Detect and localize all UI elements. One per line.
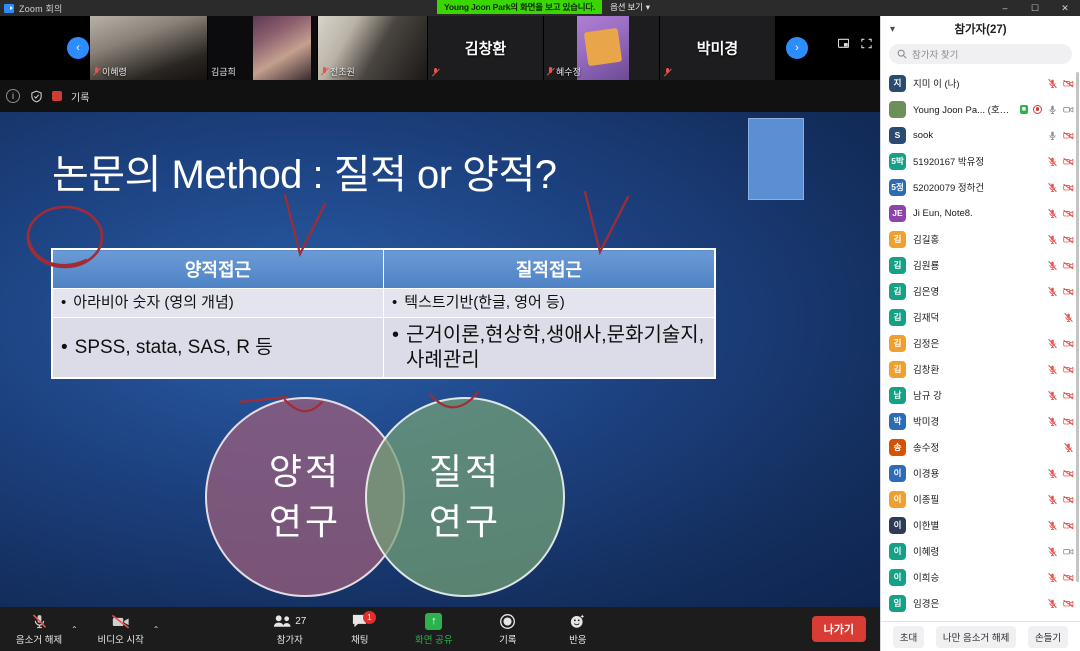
- avatar: 이: [889, 569, 906, 586]
- mute-label: 음소거 해제: [16, 632, 62, 646]
- mic-off-icon: [1063, 312, 1074, 323]
- participant-name: 김재덕: [913, 310, 1056, 324]
- venn-circle-qualitative: 질적 연구: [365, 397, 565, 597]
- filmstrip-prev-button[interactable]: ‹: [67, 37, 89, 59]
- share-screen-icon: ↑: [425, 612, 442, 630]
- toolbar-left-group: 음소거 해제 ⌃ 비디오 시작 ⌃: [0, 607, 159, 651]
- participant-row[interactable]: 김김정은: [881, 330, 1080, 356]
- participant-row[interactable]: Young Joon Pa... (호스트)■: [881, 96, 1080, 122]
- participants-button[interactable]: 27 참가자: [263, 607, 317, 651]
- video-label: 비디오 시작: [98, 632, 144, 646]
- cell-quant-2: SPSS, stata, SAS, R 등: [53, 318, 384, 378]
- video-off-icon: [1063, 130, 1074, 141]
- participant-row[interactable]: JEJi Eun, Note8.: [881, 200, 1080, 226]
- participant-row[interactable]: 이이희승: [881, 564, 1080, 590]
- participant-row[interactable]: 김김은영: [881, 278, 1080, 304]
- invite-button[interactable]: 초대: [893, 626, 924, 648]
- participant-name: 이혜령: [913, 544, 1040, 558]
- venn-right-line2: 연구: [429, 504, 501, 540]
- cell-text: SPSS, stata, SAS, R 등: [61, 336, 375, 359]
- avatar: 5박: [889, 153, 906, 170]
- table-row: SPSS, stata, SAS, R 등 근거이론,현상학,생애사,문화기술지…: [53, 318, 715, 378]
- participant-status: [1047, 338, 1074, 349]
- video-filmstrip: 이혜령 김금희 전초원 김창환 혜수정 박미경 ‹ ›: [0, 16, 880, 80]
- avatar: [889, 101, 906, 118]
- participant-row[interactable]: 김김재덕: [881, 304, 1080, 330]
- mic-on-icon: [1047, 104, 1058, 115]
- reactions-button[interactable]: 반응: [551, 607, 605, 651]
- table-header-qualitative: 질적접근: [384, 250, 715, 289]
- participant-row[interactable]: 박박미경: [881, 408, 1080, 434]
- avatar: 5정: [889, 179, 906, 196]
- avatar: 김: [889, 257, 906, 274]
- participant-row[interactable]: 이이종필: [881, 486, 1080, 512]
- participant-name: 지미 이 (나): [913, 76, 1040, 90]
- slide-comparison-table: 양적접근 질적접근 아라비아 숫자 (영의 개념) 텍스트기반(한글, 영어 등…: [52, 249, 715, 378]
- mic-off-icon: [1047, 208, 1058, 219]
- thumbnail-name-5: 박미경: [660, 38, 775, 59]
- thumbnail-name-2: 전초원: [321, 65, 355, 78]
- thumbnail-4[interactable]: 혜수정: [544, 16, 660, 80]
- video-off-icon: [111, 612, 131, 630]
- avatar: 이: [889, 517, 906, 534]
- cell-text: 텍스트기반(한글, 영어 등): [392, 294, 706, 312]
- shield-icon[interactable]: [29, 89, 43, 103]
- close-button[interactable]: ✕: [1050, 0, 1080, 16]
- participant-status: [1047, 364, 1074, 375]
- participant-status: [1047, 130, 1074, 141]
- video-off-icon: [1063, 234, 1074, 245]
- participant-status: [1047, 260, 1074, 271]
- filmstrip-view-controls: [838, 38, 872, 49]
- thumbnail-name-0: 이혜령: [93, 65, 127, 78]
- info-icon[interactable]: i: [6, 89, 20, 103]
- search-input[interactable]: 참가자 찾기: [889, 44, 1072, 64]
- video-options-caret-icon[interactable]: ⌃: [153, 625, 160, 634]
- venn-right-line1: 질적: [429, 454, 501, 490]
- cell-qual-2: 근거이론,현상학,생애사,문화기술지,사례관리: [384, 318, 715, 378]
- recording-indicator-icon: [52, 91, 62, 101]
- chevron-down-icon: ▾: [646, 2, 650, 13]
- participant-status: [1047, 598, 1074, 609]
- video-off-icon: [1063, 364, 1074, 375]
- maximize-button[interactable]: ☐: [1020, 0, 1050, 16]
- cell-text: 근거이론,현상학,생애사,문화기술지,사례관리: [392, 323, 706, 372]
- participant-status: [1047, 416, 1074, 427]
- panel-scrollbar[interactable]: [1076, 72, 1079, 582]
- participant-name: 이종필: [913, 492, 1040, 506]
- participant-status: [1047, 546, 1074, 557]
- venn-left-line1: 양적: [269, 454, 341, 490]
- avatar: 임: [889, 595, 906, 612]
- share-banner-message: Young Joon Park의 화면을 보고 있습니다.: [437, 0, 602, 14]
- meeting-toolbar: 음소거 해제 ⌃ 비디오 시작 ⌃: [0, 607, 880, 651]
- participant-status: [1047, 286, 1074, 297]
- mic-off-icon: [31, 612, 48, 630]
- video-on-icon: [1063, 104, 1074, 115]
- slide-artifact-rect: [748, 118, 804, 200]
- cell-qual-1: 텍스트기반(한글, 영어 등): [384, 289, 715, 318]
- video-off-icon: [1063, 598, 1074, 609]
- meeting-info-row: i 기록: [0, 80, 880, 112]
- view-options-button[interactable]: 옵션 보기 ▾: [602, 0, 658, 14]
- mic-off-icon: [1047, 598, 1058, 609]
- video-off-icon: [1063, 286, 1074, 297]
- participant-name: 송수정: [913, 440, 1056, 454]
- leave-meeting-button[interactable]: 나가기: [812, 616, 866, 642]
- participant-status: [1063, 442, 1074, 453]
- avatar: 이: [889, 491, 906, 508]
- participant-row[interactable]: 5정52020079 정하건: [881, 174, 1080, 200]
- mic-off-icon: [547, 67, 554, 77]
- participants-panel-title: 참가자(27): [881, 21, 1080, 37]
- video-off-icon: [1063, 78, 1074, 89]
- participant-status: [1047, 208, 1074, 219]
- filmstrip-next-button[interactable]: ›: [786, 37, 808, 59]
- chat-label: 채팅: [351, 632, 368, 646]
- venn-left-line2: 연구: [269, 504, 341, 540]
- thumbnail-name-3: 김창환: [428, 38, 543, 59]
- participant-name: 이경용: [913, 466, 1040, 480]
- avatar: S: [889, 127, 906, 144]
- record-label: 기록: [499, 632, 516, 646]
- unmute-me-button[interactable]: 나만 음소거 해제: [936, 626, 1016, 648]
- shared-screen-stage: 논문의 Method : 질적 or 양적? 양적접근 질적접근 아라비아 숫자…: [0, 112, 880, 607]
- participant-status: [1047, 494, 1074, 505]
- mic-off-icon: [432, 67, 439, 77]
- participants-count: 27: [295, 616, 306, 627]
- participants-panel: ▾ 참가자(27) 참가자 찾기 지지미 이 (나)Young Joon Pa.…: [880, 16, 1080, 651]
- participant-status: [1047, 468, 1074, 479]
- participant-row[interactable]: 이이혜령: [881, 538, 1080, 564]
- video-off-icon: [1063, 572, 1074, 583]
- avatar: 박: [889, 413, 906, 430]
- participant-status: [1047, 234, 1074, 245]
- participant-status: [1047, 572, 1074, 583]
- thumbnail-5[interactable]: 박미경: [660, 16, 776, 80]
- mic-off-icon: [1047, 260, 1058, 271]
- avatar: 남: [889, 387, 906, 404]
- thumbnail-video-1: [253, 16, 311, 80]
- participant-row[interactable]: 지지미 이 (나): [881, 70, 1080, 96]
- search-placeholder: 참가자 찾기: [912, 47, 958, 61]
- share-screen-button[interactable]: ↑ 화면 공유: [403, 607, 465, 651]
- participants-panel-header: ▾ 참가자(27): [881, 16, 1080, 42]
- participant-status: [1047, 520, 1074, 531]
- mic-off-icon: [1047, 182, 1058, 193]
- participants-search-wrap: 참가자 찾기: [881, 42, 1080, 70]
- avatar: 김: [889, 309, 906, 326]
- mic-on-icon: [1047, 130, 1058, 141]
- mic-off-icon: [1047, 494, 1058, 505]
- participant-name: 이희승: [913, 570, 1040, 584]
- mic-off-icon: [1047, 234, 1058, 245]
- video-off-icon: [1063, 520, 1074, 531]
- recording-icon: [1033, 105, 1042, 114]
- thumbnail-name-1: 김금희: [211, 65, 236, 78]
- participant-name: 김은영: [913, 284, 1040, 298]
- video-off-icon: [1063, 182, 1074, 193]
- screen-share-banner: Young Joon Park의 화면을 보고 있습니다. 옵션 보기 ▾: [437, 0, 658, 14]
- participant-status: [1047, 390, 1074, 401]
- fullscreen-icon[interactable]: [861, 38, 872, 49]
- venn-diagram: 양적 연구 질적 연구: [205, 397, 565, 597]
- mute-button[interactable]: 음소거 해제: [12, 607, 66, 651]
- participant-row[interactable]: 5박51920167 박유정: [881, 148, 1080, 174]
- record-button[interactable]: 기록: [481, 607, 535, 651]
- video-off-icon: [1063, 208, 1074, 219]
- participant-name: 남규 강: [913, 388, 1040, 402]
- participant-name: 박미경: [913, 414, 1040, 428]
- participant-status: [1063, 312, 1074, 323]
- participant-name: 김정은: [913, 336, 1040, 350]
- mic-off-icon: [1063, 442, 1074, 453]
- participant-row[interactable]: Ssook: [881, 122, 1080, 148]
- avatar: 지: [889, 75, 906, 92]
- participant-name: 임경은: [913, 596, 1040, 610]
- thumbnail-video-4: [577, 16, 629, 80]
- participant-status: [1047, 78, 1074, 89]
- participant-row[interactable]: 송송수정: [881, 434, 1080, 460]
- zoom-logo-icon: [4, 4, 14, 13]
- thumbnail-2[interactable]: 전초원: [318, 16, 428, 80]
- raise-hand-button[interactable]: 손들기: [1028, 626, 1068, 648]
- mic-off-icon: [1047, 572, 1058, 583]
- mic-off-icon: [1047, 338, 1058, 349]
- cell-quant-1: 아라비아 숫자 (영의 개념): [53, 289, 384, 318]
- participant-status: [1047, 156, 1074, 167]
- video-off-icon: [1063, 338, 1074, 349]
- mic-off-icon: [1047, 468, 1058, 479]
- chat-badge: 1: [363, 611, 376, 624]
- window-title: Zoom 회의: [19, 2, 62, 15]
- video-off-icon: [1063, 468, 1074, 479]
- mic-off-icon: [1047, 390, 1058, 401]
- slide-title: 논문의 Method : 질적 or 양적?: [52, 142, 557, 200]
- share-screen-label: 화면 공유: [415, 632, 453, 646]
- participants-icon: 27: [273, 612, 306, 630]
- recording-label: 기록: [71, 89, 89, 104]
- mute-control-group: 음소거 해제 ⌃: [12, 607, 78, 651]
- host-badge-icon: ■: [1020, 105, 1028, 114]
- participant-row[interactable]: 남남규 강: [881, 382, 1080, 408]
- mic-off-icon: [1047, 520, 1058, 531]
- mute-options-caret-icon[interactable]: ⌃: [71, 625, 78, 634]
- participant-row[interactable]: 이이한별: [881, 512, 1080, 538]
- participant-row[interactable]: 임임경은: [881, 590, 1080, 616]
- participant-name: 김길홍: [913, 232, 1040, 246]
- participant-row[interactable]: 김김길홍: [881, 226, 1080, 252]
- search-icon: [897, 49, 907, 59]
- video-off-icon: [1063, 416, 1074, 427]
- mic-off-icon: [1047, 416, 1058, 427]
- reactions-icon: [569, 612, 586, 630]
- layout-icon[interactable]: [838, 38, 849, 49]
- mic-off-icon: [1047, 286, 1058, 297]
- record-icon: [499, 612, 516, 630]
- participant-name: 52020079 정하건: [913, 180, 1040, 194]
- video-on-icon: [1063, 546, 1074, 557]
- reactions-label: 반응: [569, 632, 586, 646]
- avatar: 송: [889, 439, 906, 456]
- view-options-label: 옵션 보기: [610, 1, 643, 13]
- video-off-icon: [1063, 494, 1074, 505]
- avatar: 김: [889, 335, 906, 352]
- participants-label: 참가자: [277, 632, 303, 646]
- participant-name: sook: [913, 130, 1040, 141]
- participant-name: 이한별: [913, 518, 1040, 532]
- video-off-icon: [1063, 156, 1074, 167]
- table-header-quantitative: 양적접근: [53, 250, 384, 289]
- thumbnail-0[interactable]: 이혜령: [90, 16, 208, 80]
- participants-panel-footer: 초대 나만 음소거 해제 손들기: [881, 621, 1080, 651]
- avatar: 김: [889, 283, 906, 300]
- participant-name: 김원룡: [913, 258, 1040, 272]
- video-control-group: 비디오 시작 ⌃: [94, 607, 160, 651]
- cell-text: 아라비아 숫자 (영의 개념): [61, 294, 375, 312]
- participant-name: 김창환: [913, 362, 1040, 376]
- mic-off-icon: [93, 67, 100, 77]
- chat-button[interactable]: 1 채팅: [333, 607, 387, 651]
- participant-name: Young Joon Pa... (호스트): [913, 102, 1013, 116]
- participant-status: [1047, 182, 1074, 193]
- video-off-icon: [1063, 260, 1074, 271]
- video-off-icon: [1063, 390, 1074, 401]
- chevron-down-icon[interactable]: ▾: [890, 24, 895, 35]
- minimize-button[interactable]: –: [990, 0, 1020, 16]
- table-header-row: 양적접근 질적접근: [53, 250, 715, 289]
- participant-name: 51920167 박유정: [913, 154, 1040, 168]
- mic-off-icon: [664, 67, 671, 77]
- mic-off-icon: [1047, 364, 1058, 375]
- mic-off-icon: [1047, 546, 1058, 557]
- participant-name: Ji Eun, Note8.: [913, 208, 1040, 219]
- thumbnail-3[interactable]: 김창환: [428, 16, 544, 80]
- avatar: 김: [889, 361, 906, 378]
- participant-status: ■: [1020, 104, 1074, 115]
- participant-row[interactable]: 김김창환: [881, 356, 1080, 382]
- mic-off-icon: [321, 67, 328, 77]
- thumbnail-name-4: 혜수정: [547, 65, 581, 78]
- video-button[interactable]: 비디오 시작: [94, 607, 148, 651]
- table-row: 아라비아 숫자 (영의 개념) 텍스트기반(한글, 영어 등): [53, 289, 715, 318]
- mic-off-icon: [1047, 78, 1058, 89]
- thumbnail-1[interactable]: 김금희: [208, 16, 318, 80]
- toolbar-center-group: 27 참가자 1 채팅 ↑ 화면 공유: [263, 607, 605, 651]
- avatar: 이: [889, 543, 906, 560]
- mic-off-icon: [1047, 156, 1058, 167]
- participants-list[interactable]: 지지미 이 (나)Young Joon Pa... (호스트)■Ssook5박5…: [881, 70, 1080, 621]
- avatar: 김: [889, 231, 906, 248]
- participant-row[interactable]: 김김원룡: [881, 252, 1080, 278]
- participant-row[interactable]: 이이경용: [881, 460, 1080, 486]
- avatar: JE: [889, 205, 906, 222]
- window-controls: – ☐ ✕: [990, 0, 1080, 16]
- avatar: 이: [889, 465, 906, 482]
